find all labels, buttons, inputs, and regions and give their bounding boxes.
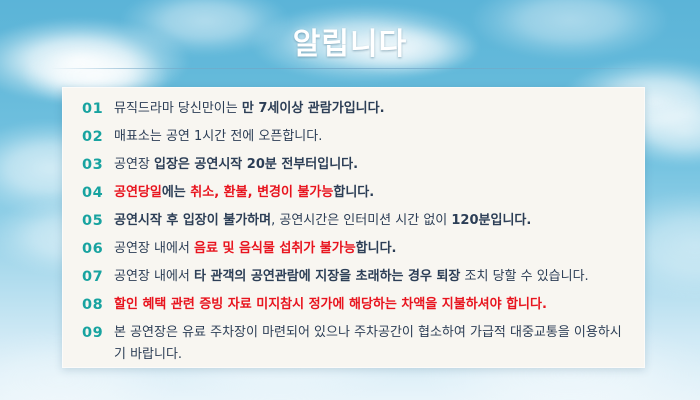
notice-item: 08할인 혜택 관련 증빙 자료 미지참시 정가에 해당하는 차액을 지불하셔야…	[62, 291, 645, 319]
notice-item-text: 할인 혜택 관련 증빙 자료 미지참시 정가에 해당하는 차액을 지불하셔야 합…	[114, 291, 631, 319]
notice-item-number: 01	[82, 95, 114, 123]
notice-text-segment: 음료 및 음식물 섭취가 불가능	[194, 241, 356, 256]
notice-item-text: 매표소는 공연 1시간 전에 오픈합니다.	[114, 123, 631, 151]
notice-text-segment: 조치 당할 수 있습니다.	[460, 269, 588, 284]
notice-text-segment: 공연장 내에서	[114, 269, 194, 284]
notice-text-segment: 본 공연장은 유료 주차장이 마련되어 있으나 주차공간이 협소하여 가급적 대…	[114, 325, 622, 362]
notice-list: 01뮤직드라마 당신만이는 만 7세이상 관람가입니다.02매표소는 공연 1시…	[62, 95, 645, 365]
notice-text-segment: 매표소는 공연 1시간 전에 오픈합니다.	[114, 129, 322, 144]
notice-text-segment: 타 관객의 공연관람에 지장을 초래하는 경우 퇴장	[194, 269, 460, 284]
notice-text-segment: , 공연시간은 인터미션 시간 없이	[271, 213, 451, 228]
notice-item: 06공연장 내에서 음료 및 음식물 섭취가 불가능합니다.	[62, 235, 645, 263]
notice-item: 01뮤직드라마 당신만이는 만 7세이상 관람가입니다.	[62, 95, 645, 123]
notice-item-text: 공연시작 후 입장이 불가하며, 공연시간은 인터미션 시간 없이 120분입니…	[114, 207, 631, 235]
notice-text-segment: 할인 혜택 관련 증빙 자료 미지참시 정가에 해당하는 차액을 지불하셔야 합…	[114, 297, 547, 312]
notice-item-text: 본 공연장은 유료 주차장이 마련되어 있으나 주차공간이 협소하여 가급적 대…	[114, 319, 631, 366]
notice-text-segment: 만 7세이상 관람가입니다.	[242, 101, 385, 116]
notice-card: 01뮤직드라마 당신만이는 만 7세이상 관람가입니다.02매표소는 공연 1시…	[62, 87, 645, 368]
notice-item-number: 03	[82, 151, 114, 179]
notice-text-segment: 합니다.	[356, 241, 397, 256]
notice-text-segment: 공연당일	[114, 185, 162, 200]
notice-item-text: 공연장 입장은 공연시작 20분 전부터입니다.	[114, 151, 631, 179]
notice-item-number: 02	[82, 123, 114, 151]
title-divider	[50, 68, 650, 69]
notice-page: 알립니다 01뮤직드라마 당신만이는 만 7세이상 관람가입니다.02매표소는 …	[0, 0, 700, 400]
notice-text-segment: 취소, 환불, 변경이 불가능	[190, 185, 333, 200]
notice-text-segment: 합니다.	[333, 185, 374, 200]
page-title: 알립니다	[293, 30, 407, 60]
notice-item-number: 07	[82, 263, 114, 291]
notice-item: 02매표소는 공연 1시간 전에 오픈합니다.	[62, 123, 645, 151]
notice-item-text: 공연당일에는 취소, 환불, 변경이 불가능합니다.	[114, 179, 631, 207]
notice-text-segment: 에는	[162, 185, 190, 200]
page-title-container: 알립니다	[0, 30, 700, 60]
notice-item: 04공연당일에는 취소, 환불, 변경이 불가능합니다.	[62, 179, 645, 207]
notice-item: 07공연장 내에서 타 관객의 공연관람에 지장을 초래하는 경우 퇴장 조치 …	[62, 263, 645, 291]
notice-item-number: 06	[82, 235, 114, 263]
notice-item-number: 09	[82, 319, 114, 347]
notice-item: 05공연시작 후 입장이 불가하며, 공연시간은 인터미션 시간 없이 120분…	[62, 207, 645, 235]
notice-text-segment: 입장은 공연시작 20분 전부터입니다.	[154, 157, 358, 172]
notice-item: 09본 공연장은 유료 주차장이 마련되어 있으나 주차공간이 협소하여 가급적…	[62, 319, 645, 365]
notice-text-segment: 공연장	[114, 157, 154, 172]
notice-item-text: 뮤직드라마 당신만이는 만 7세이상 관람가입니다.	[114, 95, 631, 123]
notice-item-text: 공연장 내에서 음료 및 음식물 섭취가 불가능합니다.	[114, 235, 631, 263]
notice-text-segment: 120분입니다.	[451, 213, 531, 228]
notice-item-number: 05	[82, 207, 114, 235]
notice-text-segment: 뮤직드라마 당신만이는	[114, 101, 242, 116]
notice-text-segment: 공연장 내에서	[114, 241, 194, 256]
notice-item-text: 공연장 내에서 타 관객의 공연관람에 지장을 초래하는 경우 퇴장 조치 당할…	[114, 263, 631, 291]
notice-text-segment: 공연시작 후 입장이 불가하며	[114, 213, 271, 228]
notice-item-number: 04	[82, 179, 114, 207]
notice-item: 03공연장 입장은 공연시작 20분 전부터입니다.	[62, 151, 645, 179]
notice-item-number: 08	[82, 291, 114, 319]
